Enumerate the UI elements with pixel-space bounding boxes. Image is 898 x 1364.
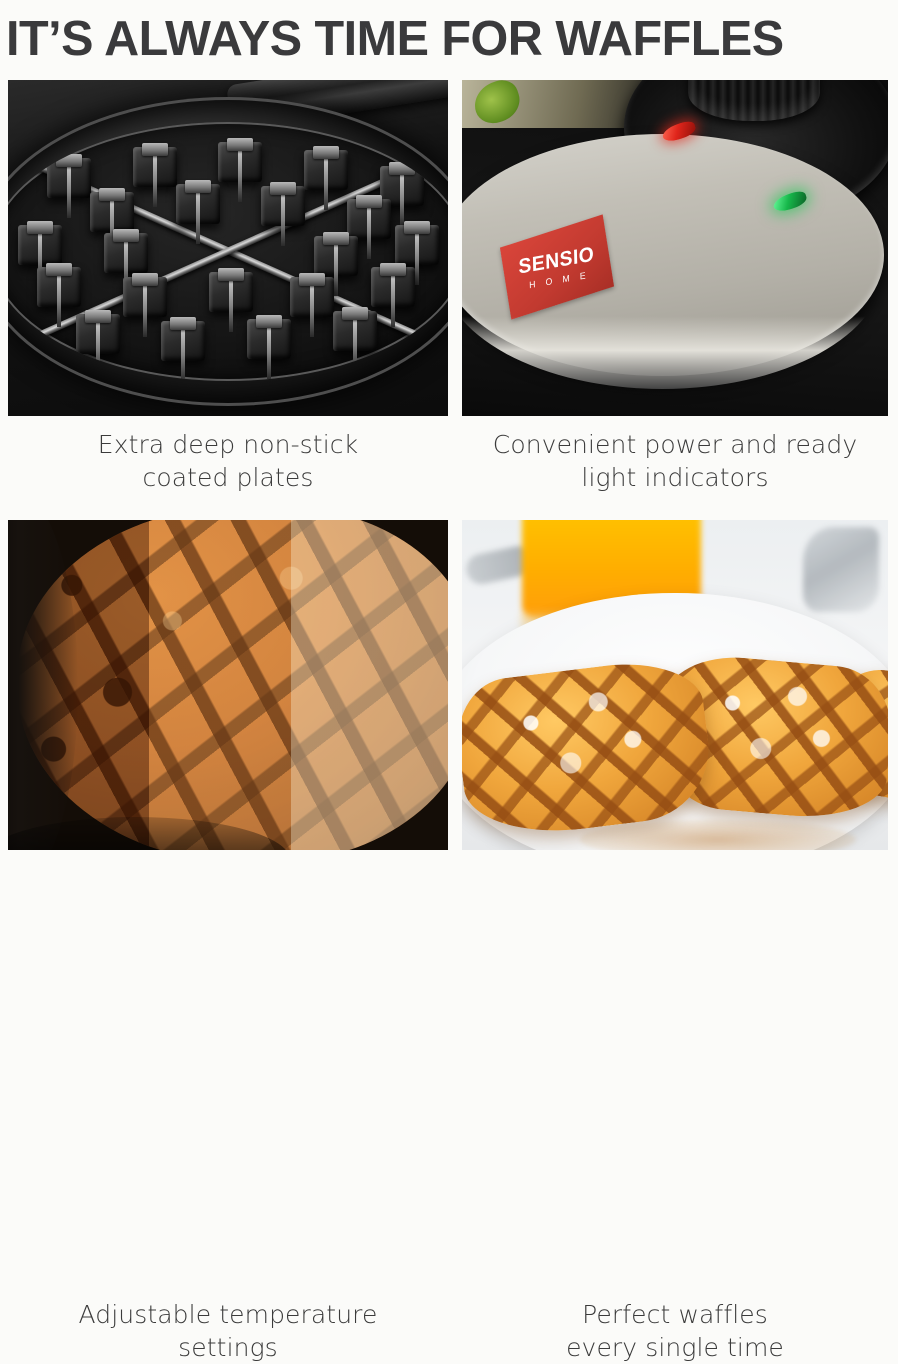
feature-grid: Extra deep non-stick coated plates SENSI… — [0, 76, 898, 956]
waffle-post — [37, 267, 81, 307]
waffle-post — [247, 319, 291, 359]
caption-line-2: coated plates — [8, 461, 448, 494]
feature-panel-adjustable-temperature: Adjustable temperature settings — [8, 520, 448, 850]
caption-line-1: Extra deep non-stick — [8, 428, 448, 461]
waffle-post — [333, 311, 377, 351]
knife-blurred — [803, 527, 880, 613]
waffle-post — [133, 147, 177, 187]
waffle-post — [209, 272, 253, 312]
waffle-post — [290, 277, 334, 317]
caption-line-1: Convenient power and ready — [462, 428, 888, 461]
photo-perfect-waffles — [462, 520, 888, 850]
waffle-post — [104, 233, 148, 273]
waffle-post — [218, 142, 262, 182]
waffle-post — [176, 184, 220, 224]
powdered-sugar — [462, 655, 717, 843]
waffle-post — [123, 277, 167, 317]
waffle-post — [18, 225, 62, 265]
photo-non-stick-plates — [8, 80, 448, 416]
caption-perfect-waffles: Perfect waffles every single time — [462, 1298, 888, 1364]
waffle-post — [261, 186, 305, 226]
feature-panel-power-ready-lights: SENSIO H O M E Convenient power and read… — [462, 80, 888, 416]
waffle-post — [371, 267, 415, 307]
waffle-plate-surface — [8, 122, 448, 382]
waffle-post — [304, 150, 348, 190]
photo-adjustable-temperature — [8, 520, 448, 850]
page-title: IT’S ALWAYS TIME FOR WAFFLES — [6, 8, 883, 70]
waffle-post-grid — [8, 122, 448, 382]
waffle-post — [90, 192, 134, 232]
waffle-post — [47, 158, 91, 198]
lid-chrome-edge — [462, 147, 884, 389]
caption-line-2: settings — [8, 1331, 448, 1364]
waffle-post — [161, 321, 205, 361]
syrup-pool — [580, 820, 857, 850]
waffle-wedge — [462, 655, 717, 843]
waffle-post — [314, 236, 358, 276]
waffle-post — [347, 199, 391, 239]
caption-line-1: Perfect waffles — [462, 1298, 888, 1331]
waffle-post — [395, 225, 439, 265]
feature-panel-non-stick-plates: Extra deep non-stick coated plates — [8, 80, 448, 416]
caption-line-2: every single time — [462, 1331, 888, 1364]
caption-power-ready-lights: Convenient power and ready light indicat… — [462, 428, 888, 494]
waffle-plate-rim — [8, 97, 448, 406]
doneness-band-light — [291, 520, 448, 850]
waffle-closeup — [17, 520, 448, 850]
waffle-post — [76, 314, 120, 354]
caption-line-2: light indicators — [462, 461, 888, 494]
caption-adjustable-temperature: Adjustable temperature settings — [8, 1298, 448, 1364]
feature-panel-perfect-waffles: Perfect waffles every single time — [462, 520, 888, 850]
infographic-page: IT’S ALWAYS TIME FOR WAFFLES — [0, 0, 898, 956]
doneness-band-medium — [149, 520, 291, 850]
caption-non-stick-plates: Extra deep non-stick coated plates — [8, 428, 448, 494]
photo-power-ready-lights: SENSIO H O M E — [462, 80, 888, 416]
caption-line-1: Adjustable temperature — [8, 1298, 448, 1331]
white-plate — [462, 593, 888, 850]
